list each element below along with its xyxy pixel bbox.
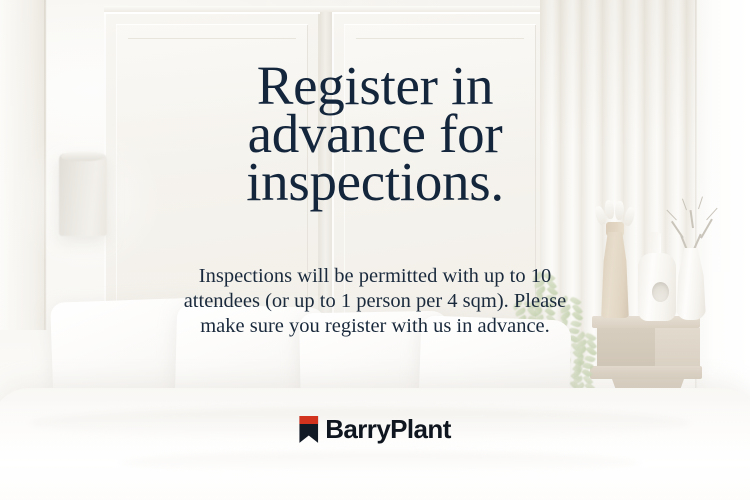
page-title: Register in advance for inspections. (0, 62, 750, 206)
body-text: Inspections will be permitted with up to… (173, 264, 577, 339)
bookmark-flag-top-band (299, 416, 318, 424)
brand-logo: BarryPlant (299, 414, 451, 445)
headline-line-3: inspections. (96, 158, 654, 206)
brand-name: BarryPlant (325, 414, 451, 445)
poster-canvas: Register in advance for inspections. Ins… (0, 0, 750, 500)
text-overlay: Register in advance for inspections. Ins… (0, 0, 750, 500)
bookmark-flag-icon (299, 416, 318, 443)
